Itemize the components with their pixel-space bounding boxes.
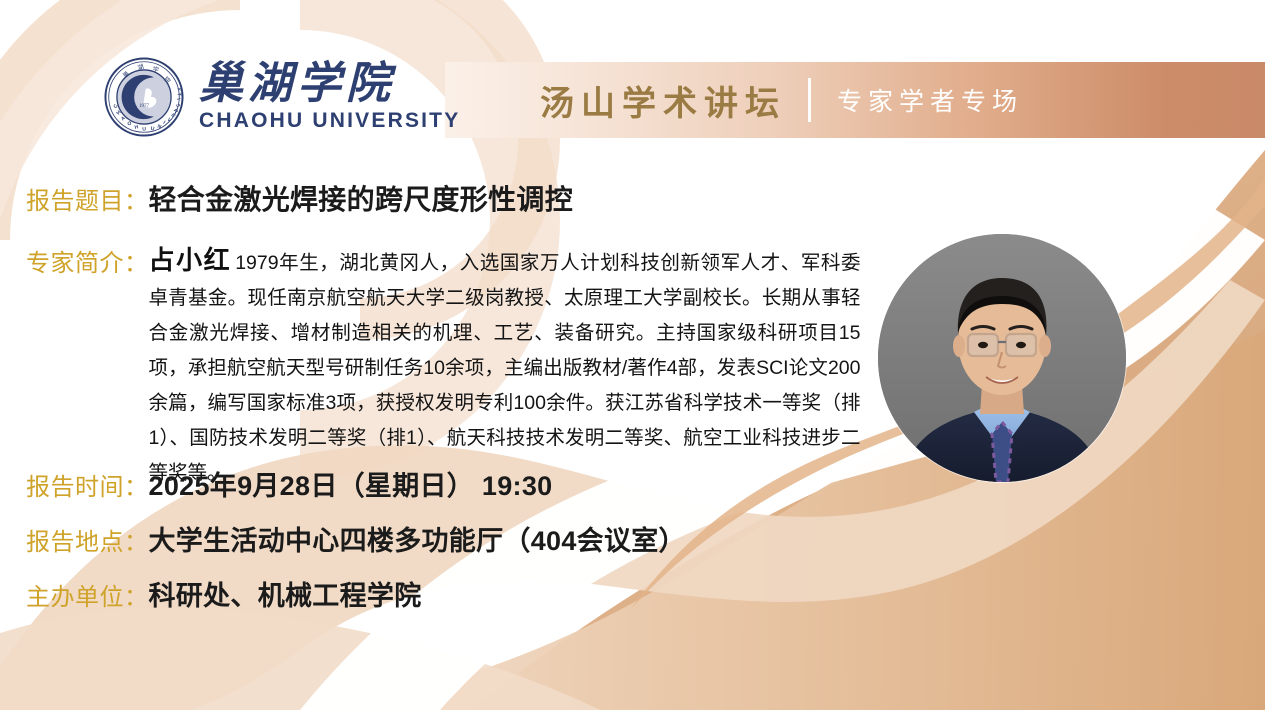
speaker-name: 占小红 [149,245,232,275]
label-speaker-bio: 专家简介： [26,243,149,278]
row-report-title: 报告题目： 轻合金激光焊接的跨尺度形性调控 [26,178,573,218]
row-organizer: 主办单位： 科研处、机械工程学院 [26,574,422,613]
row-speaker-bio: 专家简介： 占小红1979年生，湖北黄冈人，入选国家万人计划科技创新领军人才、军… [26,243,861,491]
row-report-time: 报告时间： 2025年9月28日（星期日） 19:30 [26,464,552,503]
value-report-time: 2025年9月28日（星期日） 19:30 [149,464,553,503]
value-organizer: 科研处、机械工程学院 [149,574,422,613]
value-report-title: 轻合金激光焊接的跨尺度形性调控 [149,178,574,218]
label-report-place: 报告地点： [26,522,149,557]
speaker-bio-body: 占小红1979年生，湖北黄冈人，入选国家万人计划科技创新领军人才、军科委卓青基金… [149,243,861,491]
row-report-place: 报告地点： 大学生活动中心四楼多功能厅（404会议室） [26,519,686,558]
label-report-title: 报告题目： [26,181,149,216]
label-report-time: 报告时间： [26,467,149,502]
speaker-bio-text: 1979年生，湖北黄冈人，入选国家万人计划科技创新领军人才、军科委卓青基金。现任… [149,252,861,484]
poster-canvas: 汤山学术讲坛 专家学者专场 1977 巢 湖 学 院 C H A O [0,0,1265,710]
value-report-place: 大学生活动中心四楼多功能厅（404会议室） [149,519,686,558]
poster-content: 报告题目： 轻合金激光焊接的跨尺度形性调控 专家简介： 占小红1979年生，湖北… [0,0,1265,710]
label-organizer: 主办单位： [26,577,149,612]
